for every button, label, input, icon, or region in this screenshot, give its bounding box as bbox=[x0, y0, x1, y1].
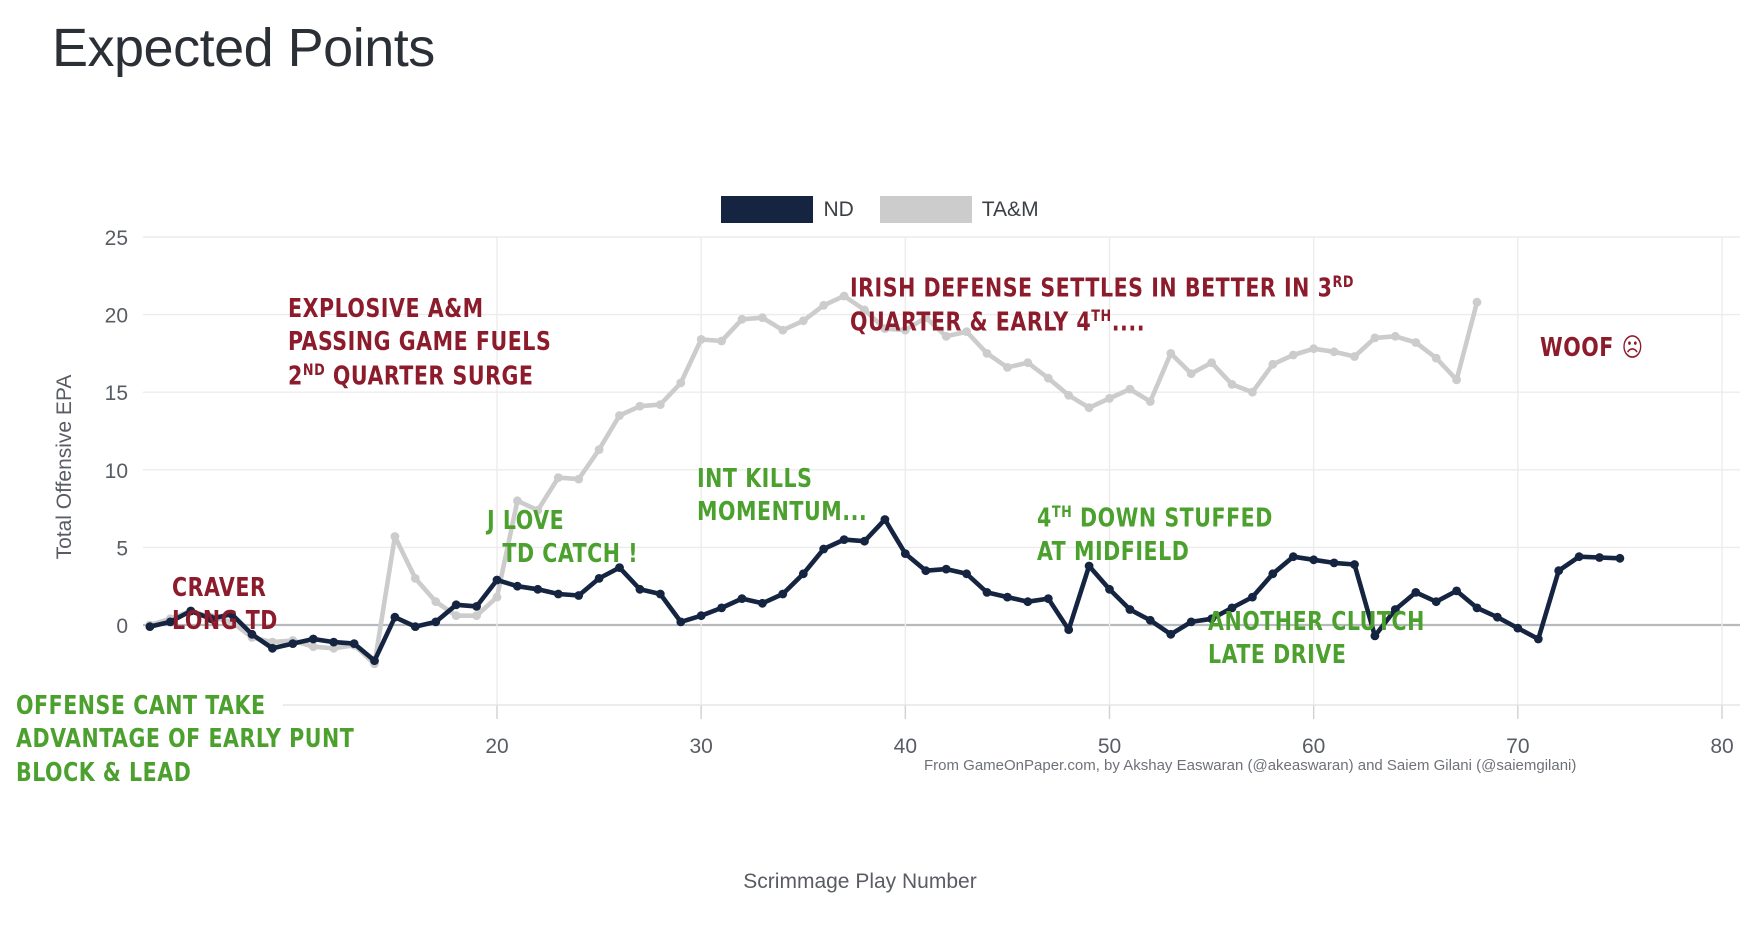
data-point bbox=[1309, 555, 1318, 564]
data-point bbox=[758, 313, 767, 322]
x-tick-label-40: 40 bbox=[894, 735, 917, 758]
data-point bbox=[840, 535, 849, 544]
annotation-woof: WOOF ☹ bbox=[1540, 332, 1644, 365]
data-point bbox=[452, 600, 461, 609]
data-point bbox=[595, 445, 604, 454]
annotation-irish-defense-settles: IRISH DEFENSE SETTLES IN BETTER IN 3RDQU… bbox=[850, 272, 1354, 340]
data-point bbox=[288, 639, 297, 648]
data-point bbox=[1105, 585, 1114, 594]
data-point bbox=[636, 402, 645, 411]
data-point bbox=[1268, 360, 1277, 369]
data-point bbox=[697, 335, 706, 344]
data-point bbox=[1371, 334, 1380, 343]
data-point bbox=[1268, 569, 1277, 578]
data-point bbox=[758, 599, 767, 608]
data-point bbox=[554, 590, 563, 599]
data-point bbox=[1575, 552, 1584, 561]
data-point bbox=[1493, 613, 1502, 622]
data-point bbox=[819, 301, 828, 310]
data-point bbox=[656, 590, 665, 599]
chart-credit: From GameOnPaper.com, by Akshay Easwaran… bbox=[924, 757, 1576, 774]
data-point bbox=[1064, 625, 1073, 634]
data-point bbox=[574, 475, 583, 484]
data-point bbox=[268, 644, 277, 653]
data-point bbox=[1064, 391, 1073, 400]
annotation-4th-down-stuffed: 4TH DOWN STUFFEDAT MIDFIELD bbox=[1037, 502, 1273, 569]
data-point bbox=[1330, 347, 1339, 356]
data-point bbox=[411, 622, 420, 631]
data-point bbox=[1228, 380, 1237, 389]
x-axis-title: Scrimmage Play Number bbox=[660, 870, 1060, 894]
data-point bbox=[391, 613, 400, 622]
data-point bbox=[676, 379, 685, 388]
data-point bbox=[493, 576, 502, 585]
data-point bbox=[533, 585, 542, 594]
data-point bbox=[1003, 363, 1012, 372]
x-tick-label-50: 50 bbox=[1098, 735, 1121, 758]
data-point bbox=[840, 292, 849, 301]
data-point bbox=[1432, 597, 1441, 606]
data-point bbox=[1330, 559, 1339, 568]
y-tick-label-25: 25 bbox=[105, 227, 128, 250]
data-point bbox=[1350, 560, 1359, 569]
x-tick-label-60: 60 bbox=[1302, 735, 1325, 758]
x-tick-label-30: 30 bbox=[689, 735, 712, 758]
data-point bbox=[1085, 403, 1094, 412]
data-point bbox=[391, 532, 400, 541]
data-point bbox=[1473, 604, 1482, 613]
data-point bbox=[676, 618, 685, 627]
data-point bbox=[1554, 566, 1563, 575]
data-point bbox=[309, 635, 318, 644]
data-point bbox=[1023, 358, 1032, 367]
data-point bbox=[1452, 587, 1461, 596]
y-tick-label-10: 10 bbox=[105, 460, 128, 483]
data-point bbox=[1187, 369, 1196, 378]
data-point bbox=[942, 565, 951, 574]
data-point bbox=[1023, 597, 1032, 606]
data-point bbox=[1432, 354, 1441, 363]
data-point bbox=[1391, 332, 1400, 341]
data-point bbox=[1513, 624, 1522, 633]
y-tick-label-20: 20 bbox=[105, 305, 128, 328]
data-point bbox=[1166, 349, 1175, 358]
annotation-explosive-am-passing: EXPLOSIVE A&MPASSING GAME FUELS2ND QUART… bbox=[288, 293, 551, 393]
data-point bbox=[513, 496, 522, 505]
data-point bbox=[1452, 375, 1461, 384]
data-point bbox=[983, 349, 992, 358]
annotation-j-love-td-catch: J LOVE TD CATCH ! bbox=[487, 505, 638, 572]
data-point bbox=[738, 594, 747, 603]
data-point bbox=[1146, 397, 1155, 406]
data-point bbox=[656, 400, 665, 409]
data-point bbox=[350, 639, 359, 648]
data-point bbox=[1534, 635, 1543, 644]
data-point bbox=[431, 618, 440, 627]
data-point bbox=[717, 337, 726, 346]
data-point bbox=[329, 638, 338, 647]
data-point bbox=[493, 593, 502, 602]
data-point bbox=[554, 473, 563, 482]
data-point bbox=[1350, 352, 1359, 361]
annotation-int-kills-momentum: INT KILLSMOMENTUM... bbox=[697, 463, 867, 530]
data-point bbox=[1411, 338, 1420, 347]
data-point bbox=[1595, 553, 1604, 562]
data-point bbox=[1146, 616, 1155, 625]
data-point bbox=[370, 656, 379, 665]
data-point bbox=[1207, 358, 1216, 367]
data-point bbox=[1248, 388, 1257, 397]
data-point bbox=[1105, 394, 1114, 403]
data-point bbox=[636, 585, 645, 594]
data-point bbox=[799, 569, 808, 578]
y-axis-title: Total Offensive EPA bbox=[53, 347, 77, 587]
data-point bbox=[778, 326, 787, 335]
data-point bbox=[799, 316, 808, 325]
data-point bbox=[819, 545, 828, 554]
y-tick-label-5: 5 bbox=[116, 537, 128, 560]
data-point bbox=[738, 315, 747, 324]
data-point bbox=[901, 549, 910, 558]
data-point bbox=[921, 566, 930, 575]
data-point bbox=[1044, 594, 1053, 603]
data-point bbox=[513, 582, 522, 591]
data-point bbox=[1126, 385, 1135, 394]
data-point bbox=[1248, 593, 1257, 602]
data-point bbox=[472, 602, 481, 611]
x-tick-label-70: 70 bbox=[1506, 735, 1529, 758]
data-point bbox=[697, 611, 706, 620]
annotation-another-clutch-late-drive: ANOTHER CLUTCHLATE DRIVE bbox=[1208, 606, 1425, 673]
data-point bbox=[1044, 374, 1053, 383]
data-point bbox=[1003, 593, 1012, 602]
data-point bbox=[1309, 344, 1318, 353]
data-point bbox=[411, 574, 420, 583]
data-point bbox=[778, 590, 787, 599]
data-point bbox=[1289, 351, 1298, 360]
data-point bbox=[452, 611, 461, 620]
data-point bbox=[1473, 298, 1482, 307]
data-point bbox=[309, 642, 318, 651]
data-point bbox=[881, 515, 890, 524]
annotation-craver-long-td: CRAVERLONG TD bbox=[172, 572, 278, 639]
data-point bbox=[860, 537, 869, 546]
data-point bbox=[1126, 605, 1135, 614]
data-point bbox=[431, 597, 440, 606]
data-point bbox=[1411, 588, 1420, 597]
annotation-offense-cant-take-advantage: OFFENSE CANT TAKEADVANTAGE OF EARLY PUNT… bbox=[16, 690, 354, 790]
data-point bbox=[1187, 618, 1196, 627]
x-tick-label-20: 20 bbox=[485, 735, 508, 758]
x-tick-label-80: 80 bbox=[1710, 735, 1733, 758]
data-point bbox=[717, 604, 726, 613]
y-tick-label-15: 15 bbox=[105, 382, 128, 405]
y-tick-label-0: 0 bbox=[116, 615, 128, 638]
data-point bbox=[1166, 630, 1175, 639]
data-point bbox=[615, 411, 624, 420]
data-point bbox=[1289, 552, 1298, 561]
data-point bbox=[146, 622, 155, 631]
data-point bbox=[1616, 554, 1625, 563]
data-point bbox=[595, 574, 604, 583]
data-point bbox=[574, 591, 583, 600]
data-point bbox=[962, 569, 971, 578]
data-point bbox=[983, 588, 992, 597]
data-point bbox=[472, 611, 481, 620]
